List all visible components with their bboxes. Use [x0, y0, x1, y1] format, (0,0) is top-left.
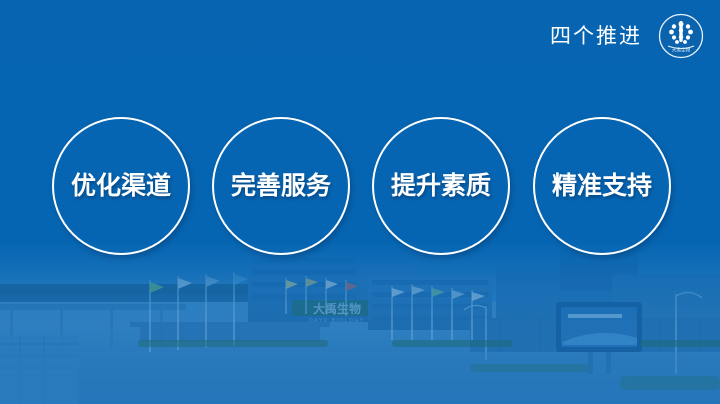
circle-improve-service[interactable]: 完善服务	[212, 117, 350, 255]
circle-precise-support[interactable]: 精准支持	[533, 117, 671, 255]
circle-label: 完善服务	[231, 174, 331, 199]
svg-text:大禹生物: 大禹生物	[672, 46, 691, 53]
circle-label: 提升素质	[391, 174, 491, 199]
page-title: 四个推进	[550, 26, 642, 47]
circle-group: 优化渠道 完善服务 提升素质 精准支持	[0, 117, 720, 255]
slide-header: 四个推进	[550, 0, 720, 72]
circle-optimize-channel[interactable]: 优化渠道	[52, 117, 190, 255]
brand-logo-icon: 大禹生物	[658, 13, 704, 59]
slide-root: 大禹生物 DAYU BIOLOGY	[0, 0, 720, 404]
background-photo: 大禹生物 DAYU BIOLOGY	[0, 244, 720, 404]
circle-raise-quality[interactable]: 提升素质	[372, 117, 510, 255]
svg-text:大禹生物: 大禹生物	[313, 301, 361, 316]
circle-label: 精准支持	[552, 174, 652, 199]
circle-label: 优化渠道	[71, 174, 171, 199]
